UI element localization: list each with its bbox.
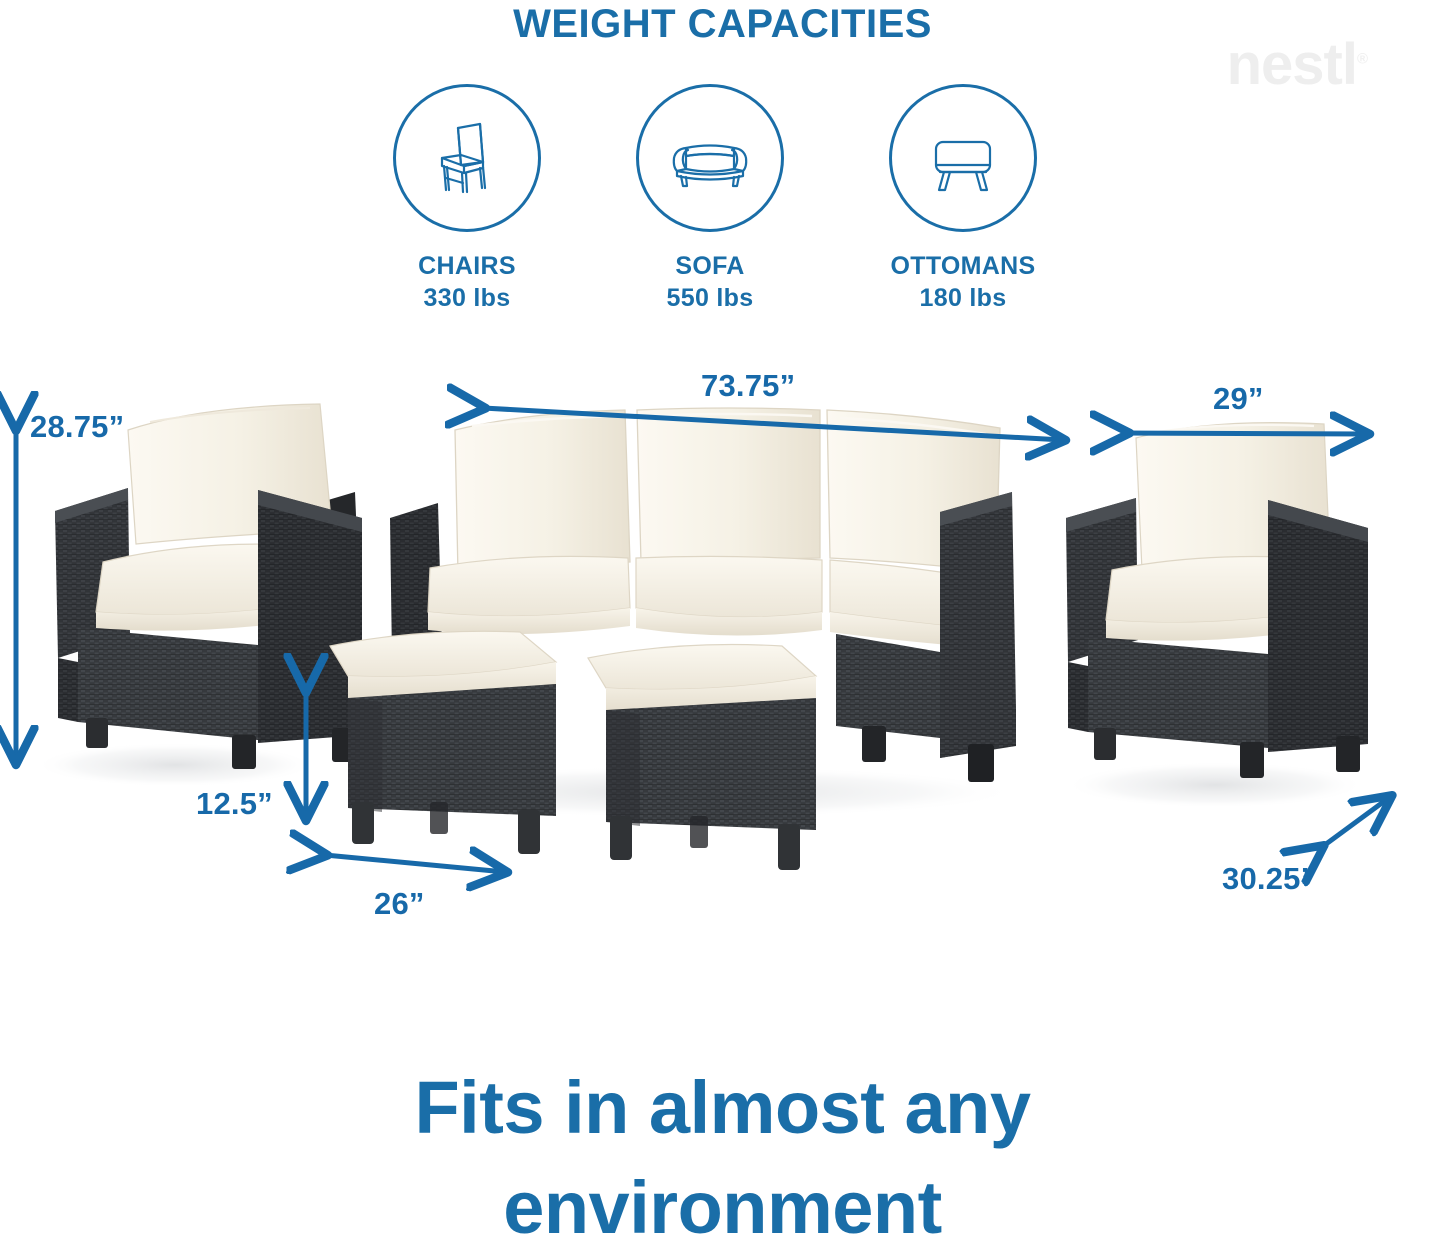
left-ottoman xyxy=(330,631,556,854)
capacity-value-ottomans: 180 lbs xyxy=(889,282,1037,314)
infographic-canvas: WEIGHT CAPACITIES nestl® xyxy=(0,0,1445,1246)
brand-logo: nestl® xyxy=(1227,36,1367,94)
capacity-value-sofa: 550 lbs xyxy=(636,282,784,314)
capacity-value-chairs: 330 lbs xyxy=(393,282,541,314)
right-ottoman xyxy=(588,645,816,871)
capacity-item-sofa: SOFA 550 lbs xyxy=(636,84,784,314)
capacity-item-ottomans: OTTOMANS 180 lbs xyxy=(889,84,1037,314)
dimension-label-chair-height: 28.75” xyxy=(30,409,124,445)
dimension-label-chair-width: 29” xyxy=(1213,381,1264,417)
capacity-label-ottomans: OTTOMANS xyxy=(889,250,1037,282)
chair-icon-circle xyxy=(393,84,541,232)
dimension-label-sofa-width: 73.75” xyxy=(701,368,795,404)
left-armchair xyxy=(55,404,362,769)
capacity-label-sofa: SOFA xyxy=(636,250,784,282)
dimension-label-ottoman-height: 12.5” xyxy=(196,786,273,822)
capacity-label-chairs: CHAIRS xyxy=(393,250,541,282)
tagline-line-1: Fits in almost any xyxy=(0,1064,1445,1151)
dimension-label-ottoman-width: 26” xyxy=(374,886,425,922)
tagline-line-2: environment xyxy=(0,1164,1445,1251)
right-armchair xyxy=(1066,423,1368,778)
chair-icon xyxy=(425,116,509,200)
trademark-symbol: ® xyxy=(1357,51,1367,68)
ottoman-icon xyxy=(920,116,1006,200)
dimension-label-chair-depth: 30.25” xyxy=(1222,861,1316,897)
sofa-icon-circle xyxy=(636,84,784,232)
capacity-item-chairs: CHAIRS 330 lbs xyxy=(393,84,541,314)
brand-logo-text: nestl xyxy=(1227,32,1357,97)
ottoman-icon-circle xyxy=(889,84,1037,232)
furniture-scene xyxy=(0,340,1445,940)
sofa-icon xyxy=(664,116,756,200)
